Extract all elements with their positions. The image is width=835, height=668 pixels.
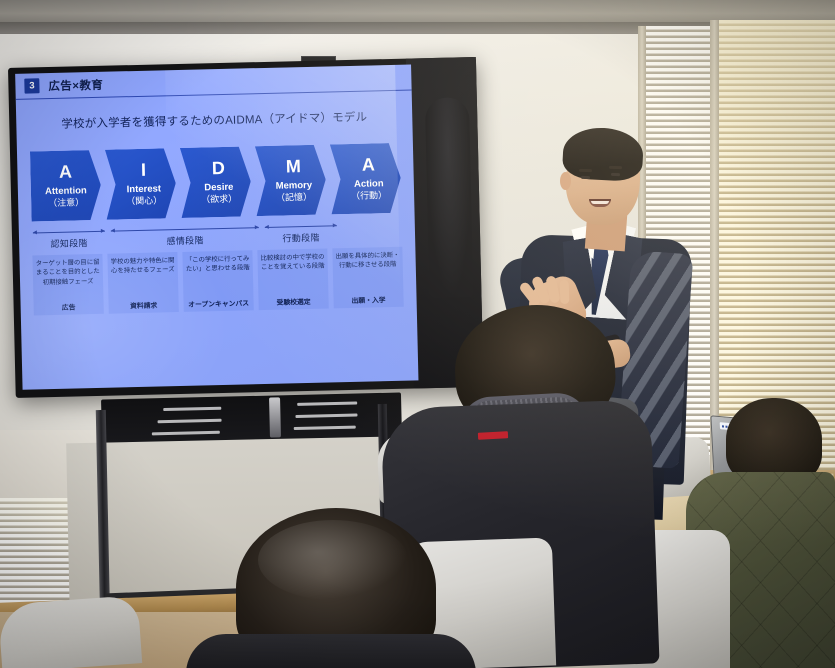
slide-number-badge: 3 [24,78,39,93]
step-letter: D [212,159,225,178]
slide-header-title: 広告×教育 [48,76,103,93]
description-tag: 広告 [62,301,76,311]
description-tag: 資料請求 [130,300,157,311]
step-english: Desire [204,183,233,194]
reflected-silhouette [425,97,474,298]
greying-hair-highlight [258,520,408,600]
step-japanese: （記憶） [276,193,312,204]
aidma-step-memory: M Memory （記憶） [255,145,327,217]
ir-sensor-icon [269,397,281,437]
step-english: Action [354,179,384,190]
aidma-step-desire: D Desire （欲求） [180,146,252,218]
presenter-ear [560,172,571,190]
step-english: Memory [276,181,313,192]
description-body: 比較検討の中で学校のことを覚えている段階 [260,253,325,294]
step-english: Attention [45,186,87,197]
description-box-action: 出願を具体的に決断・行動に移させる段階 出願・入学 [332,247,403,309]
slide-title: 学校が入学者を獲得するためのAIDMA（アイドマ）モデル [16,107,412,132]
sunlight-highlight [718,20,835,270]
presenter-eye [611,173,620,176]
presenter-eyebrow [579,169,592,172]
step-japanese: （注意） [48,198,84,209]
stage-label-emotion: 感情段階 [111,232,259,248]
stage-label-cognition: 認知段階 [33,236,105,251]
axis-arrow-cognition [33,231,105,234]
description-tag: 受験校選定 [276,296,310,307]
audience-member-shoulders [186,634,476,668]
description-body: 「この学校に行ってみたい」と思わせる段階 [185,254,250,295]
presenter-eyebrow [609,166,622,169]
description-body: 出願を具体的に決断・行動に移させる段階 [335,251,400,292]
step-english: Interest [127,185,162,196]
aidma-step-attention: A Attention （注意） [30,150,102,222]
aidma-step-action: A Action （行動） [330,143,402,215]
description-tag: オープンキャンパス [188,297,249,308]
slide-canvas: 3 広告×教育 学校が入学者を獲得するためのAIDMA（アイドマ）モデル A A… [15,65,418,390]
description-box-memory: 比較検討の中で学校のことを覚えている段階 受験校選定 [257,249,328,311]
step-japanese: （欲求） [201,194,237,205]
description-body: ターゲット層の目に留まることを目的とした初期接触フェーズ [36,258,101,299]
chair [0,595,142,668]
step-letter: A [59,163,72,182]
description-body: 学校の魅力や特色に関心を持たせるフェーズ [110,256,175,297]
aidma-step-interest: I Interest （関心） [105,148,177,220]
aidma-chevron-row: A Attention （注意） I Interest （関心） D Desir… [17,142,415,221]
step-japanese: （行動） [351,191,387,202]
stage-label-action: 行動段階 [265,230,337,245]
presentation-display[interactable]: 3 広告×教育 学校が入学者を獲得するためのAIDMA（アイドマ）モデル A A… [8,57,484,398]
description-box-interest: 学校の魅力や特色に関心を持たせるフェーズ 資料請求 [107,252,178,314]
slide-header: 3 広告×教育 [15,65,412,100]
axis-arrow-action [265,225,337,228]
description-tag: 出願・入学 [351,294,385,305]
description-box-desire: 「この学校に行ってみたい」と思わせる段階 オープンキャンパス [182,250,253,312]
description-row: ターゲット層の目に留まることを目的とした初期接触フェーズ 広告 学校の魅力や特色… [19,246,416,315]
description-box-attention: ターゲット層の目に留まることを目的とした初期接触フェーズ 広告 [32,254,103,316]
seminar-room-photo: 3 広告×教育 学校が入学者を獲得するためのAIDMA（アイドマ）モデル A A… [0,0,835,668]
step-letter: I [141,161,146,180]
presenter-finger [560,280,570,304]
step-japanese: （関心） [126,196,162,207]
step-letter: A [362,156,375,175]
axis-arrow-emotion [111,227,259,231]
presenter-eye [581,176,590,179]
step-letter: M [286,158,301,177]
